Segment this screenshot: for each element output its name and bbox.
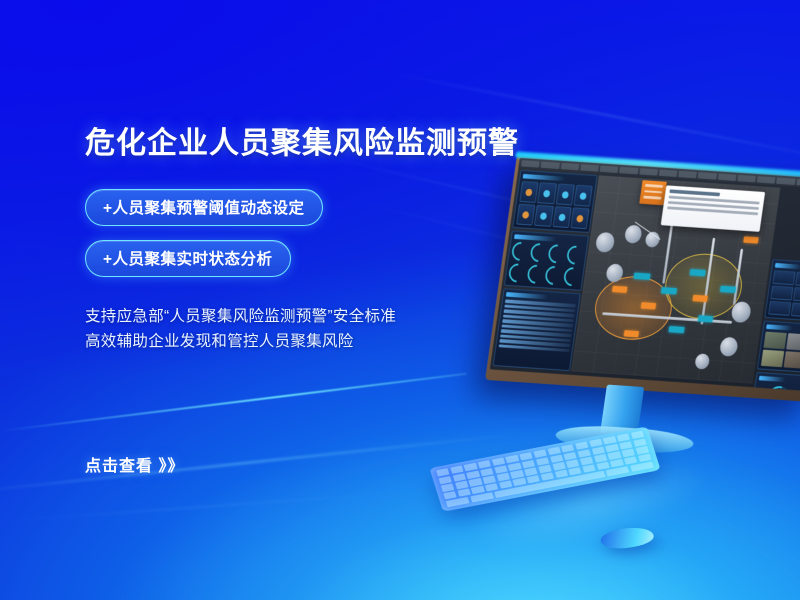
alarm-tag[interactable] bbox=[692, 295, 707, 302]
toolbar-icon[interactable] bbox=[619, 167, 638, 175]
toolbar-icon[interactable] bbox=[600, 165, 619, 173]
alarm-tag[interactable] bbox=[624, 330, 639, 337]
kpi-icon bbox=[576, 214, 584, 222]
description-line-1: 支持应急部“人员聚集风险监测预警”安全标准 bbox=[85, 304, 515, 329]
arc-gauge bbox=[527, 240, 550, 266]
arc-gauge bbox=[560, 264, 583, 290]
sensor-tag[interactable] bbox=[661, 287, 677, 294]
statistics-grid bbox=[768, 270, 800, 317]
storage-tank bbox=[694, 353, 710, 369]
factory-3d-scene[interactable] bbox=[571, 175, 780, 383]
kpi-icon bbox=[561, 191, 569, 199]
camera-thumbnail[interactable] bbox=[784, 351, 800, 369]
description-text: 支持应急部“人员聚集风险监测预警”安全标准 高效辅助企业发现和管控人员聚集风险 bbox=[85, 304, 515, 354]
dial-gauge bbox=[754, 383, 800, 391]
stat-item[interactable] bbox=[768, 301, 791, 316]
alarm-tag[interactable] bbox=[612, 286, 627, 293]
camera-grid-panel[interactable] bbox=[757, 320, 800, 372]
toolbar-icon[interactable] bbox=[580, 164, 599, 172]
kpi-card[interactable] bbox=[534, 205, 553, 227]
camera-thumbnail[interactable] bbox=[786, 333, 800, 351]
pipe bbox=[733, 249, 743, 305]
sensor-tag[interactable] bbox=[633, 272, 650, 279]
camera-grid bbox=[761, 332, 800, 369]
stat-item[interactable] bbox=[795, 272, 800, 287]
sensor-tag[interactable] bbox=[690, 269, 706, 276]
kpi-cards-panel[interactable] bbox=[512, 170, 597, 233]
description-line-2: 高效辅助企业发现和管控人员聚集风险 bbox=[85, 329, 515, 354]
kpi-card[interactable] bbox=[573, 185, 592, 207]
arc-gauge bbox=[509, 239, 532, 265]
sensor-tag[interactable] bbox=[698, 315, 713, 322]
dial-ring bbox=[762, 381, 795, 391]
toolbar-icon[interactable] bbox=[639, 168, 658, 176]
sensor-tag[interactable] bbox=[668, 326, 684, 333]
panel-title-bar bbox=[775, 263, 800, 269]
statistics-panel[interactable] bbox=[764, 259, 800, 321]
copy-block: 危化企业人员聚集风险监测预警 +人员聚集预警阈值动态设定 +人员聚集实时状态分析… bbox=[85, 126, 515, 354]
toolbar-icon[interactable] bbox=[737, 175, 756, 183]
toolbar-icon[interactable] bbox=[717, 173, 736, 181]
toolbar-icon[interactable] bbox=[560, 163, 579, 171]
storage-tank bbox=[730, 301, 752, 323]
dashboard-right-column bbox=[755, 259, 800, 387]
alarm-tag[interactable] bbox=[641, 302, 656, 309]
camera-thumbnail[interactable] bbox=[761, 350, 784, 368]
toolbar-icon[interactable] bbox=[541, 161, 560, 169]
stat-item[interactable] bbox=[770, 286, 793, 301]
toolbar-icon[interactable] bbox=[678, 171, 697, 179]
stat-item[interactable] bbox=[791, 302, 800, 317]
kpi-icon bbox=[525, 188, 533, 196]
stat-item[interactable] bbox=[793, 287, 800, 302]
kpi-icon bbox=[558, 213, 566, 221]
storage-tank bbox=[595, 232, 616, 253]
feature-pill-list: +人员聚集预警阈值动态设定 +人员聚集实时状态分析 bbox=[85, 189, 515, 277]
toolbar-icon[interactable] bbox=[796, 179, 800, 187]
monitor-bezel bbox=[485, 154, 800, 402]
panel-title-bar bbox=[506, 292, 549, 299]
arc-gauge bbox=[524, 261, 547, 287]
sensor-tag[interactable] bbox=[720, 286, 736, 293]
promo-banner: 危化企业人员聚集风险监测预警 +人员聚集预警阈值动态设定 +人员聚集实时状态分析… bbox=[0, 0, 800, 600]
panel-title-bar bbox=[759, 376, 786, 382]
camera-thumbnail[interactable] bbox=[763, 332, 786, 350]
alert-tab-line bbox=[643, 196, 661, 199]
kpi-card[interactable] bbox=[570, 207, 589, 229]
kpi-card[interactable] bbox=[555, 184, 574, 206]
monitor-screen bbox=[490, 158, 800, 391]
kpi-card[interactable] bbox=[552, 206, 571, 228]
arc-gauge bbox=[545, 241, 568, 267]
popup-text-line bbox=[667, 206, 758, 215]
arc-gauge bbox=[506, 260, 529, 286]
alert-tab-line bbox=[644, 190, 662, 193]
data-row-list bbox=[499, 299, 576, 352]
alert-tab-line bbox=[645, 184, 663, 187]
gauge-panel[interactable] bbox=[504, 230, 589, 290]
storage-tank bbox=[719, 337, 739, 357]
stat-item[interactable] bbox=[773, 270, 796, 285]
kpi-icon bbox=[579, 192, 587, 200]
kpi-card[interactable] bbox=[516, 204, 535, 226]
kpi-card[interactable] bbox=[537, 182, 556, 204]
storage-tank bbox=[624, 225, 643, 244]
kpi-icon bbox=[522, 211, 530, 219]
arc-gauge bbox=[542, 263, 565, 289]
page-title: 危化企业人员聚集风险监测预警 bbox=[85, 126, 515, 162]
alarm-tag[interactable] bbox=[743, 236, 758, 243]
gauge-grid bbox=[508, 242, 584, 287]
view-details-link[interactable]: 点击查看 》》 bbox=[85, 452, 184, 476]
pipe bbox=[701, 238, 716, 325]
dial-gauge-panel[interactable] bbox=[750, 372, 800, 391]
toolbar-icon[interactable] bbox=[698, 172, 717, 180]
arc-gauge bbox=[563, 242, 586, 268]
kpi-icon bbox=[540, 212, 548, 220]
panel-title-bar bbox=[766, 324, 793, 330]
feature-pill-realtime[interactable]: +人员聚集实时状态分析 bbox=[85, 240, 291, 277]
data-list-panel[interactable] bbox=[493, 288, 581, 371]
kpi-grid bbox=[516, 181, 593, 229]
alert-tab[interactable] bbox=[639, 180, 667, 205]
feature-pill-threshold[interactable]: +人员聚集预警阈值动态设定 bbox=[85, 189, 323, 226]
risk-zone-yellow[interactable] bbox=[661, 251, 746, 321]
toolbar-icon[interactable] bbox=[757, 176, 776, 184]
detail-popup[interactable] bbox=[661, 185, 765, 231]
kpi-card[interactable] bbox=[519, 181, 538, 203]
toolbar-icon[interactable] bbox=[521, 160, 540, 168]
panel-title-bar bbox=[523, 174, 566, 181]
kpi-icon bbox=[543, 189, 551, 197]
toolbar-icon[interactable] bbox=[776, 177, 795, 185]
toolbar-icon[interactable] bbox=[659, 169, 678, 177]
